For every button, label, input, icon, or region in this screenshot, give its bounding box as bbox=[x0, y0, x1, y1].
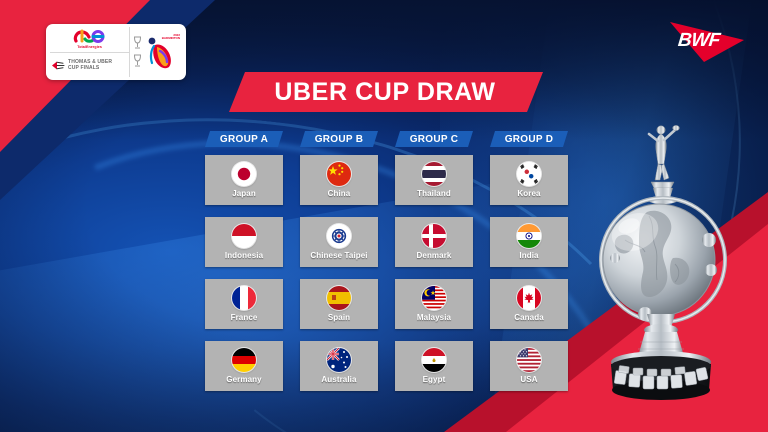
team-card[interactable]: France bbox=[205, 279, 283, 329]
usa-flag bbox=[517, 348, 541, 372]
team-card[interactable]: Malaysia bbox=[395, 279, 473, 329]
team-card[interactable]: Indonesia bbox=[205, 217, 283, 267]
group-column-d: GROUP D Kore bbox=[490, 131, 568, 403]
team-name: Spain bbox=[328, 313, 350, 322]
team-name: Chinese Taipei bbox=[310, 251, 367, 260]
denmark-flag bbox=[422, 224, 446, 248]
malaysia-flag bbox=[422, 286, 446, 310]
uber-cup-trophy-icon bbox=[585, 108, 755, 408]
group-tab-d[interactable]: GROUP D bbox=[490, 131, 568, 147]
team-name: Denmark bbox=[417, 251, 452, 260]
team-card[interactable]: Germany bbox=[205, 341, 283, 391]
egypt-flag bbox=[422, 348, 446, 372]
team-card[interactable]: India bbox=[490, 217, 568, 267]
team-card[interactable]: Chinese Taipei bbox=[300, 217, 378, 267]
group-tab-d-label: GROUP D bbox=[505, 134, 554, 145]
team-card[interactable]: Egypt bbox=[395, 341, 473, 391]
chinese-taipei-flag bbox=[327, 224, 351, 248]
group-tab-b[interactable]: GROUP B bbox=[300, 131, 378, 147]
australia-flag bbox=[327, 348, 351, 372]
india-flag bbox=[517, 224, 541, 248]
team-name: Korea bbox=[517, 189, 540, 198]
team-name: India bbox=[519, 251, 538, 260]
team-name: Indonesia bbox=[225, 251, 263, 260]
germany-flag bbox=[232, 348, 256, 372]
group-tab-a-label: GROUP A bbox=[220, 134, 268, 145]
team-name: Thailand bbox=[417, 189, 451, 198]
team-name: Japan bbox=[232, 189, 256, 198]
team-name: Malaysia bbox=[417, 313, 451, 322]
uber-cup-trophy bbox=[585, 108, 755, 408]
group-tab-b-label: GROUP B bbox=[315, 134, 364, 145]
canada-flag bbox=[517, 286, 541, 310]
team-name: Canada bbox=[514, 313, 544, 322]
group-tab-c-label: GROUP C bbox=[410, 134, 459, 145]
france-flag bbox=[232, 286, 256, 310]
team-name: USA bbox=[520, 375, 537, 384]
thailand-flag bbox=[422, 162, 446, 186]
team-card[interactable]: Korea bbox=[490, 155, 568, 205]
group-column-c: GROUP C Thailand Denmark bbox=[395, 131, 473, 403]
team-card[interactable]: Canada bbox=[490, 279, 568, 329]
korea-flag bbox=[517, 162, 541, 186]
china-flag bbox=[327, 162, 351, 186]
group-column-b: GROUP B China bbox=[300, 131, 378, 403]
group-column-a: GROUP A Japan Indonesia France bbox=[205, 131, 283, 403]
indonesia-flag bbox=[232, 224, 256, 248]
team-card[interactable]: Thailand bbox=[395, 155, 473, 205]
group-tab-a[interactable]: GROUP A bbox=[205, 131, 283, 147]
team-name: Germany bbox=[226, 375, 261, 384]
team-name: Egypt bbox=[423, 375, 446, 384]
team-card[interactable]: Japan bbox=[205, 155, 283, 205]
team-card[interactable]: Denmark bbox=[395, 217, 473, 267]
group-tab-c[interactable]: GROUP C bbox=[395, 131, 473, 147]
team-card[interactable]: China bbox=[300, 155, 378, 205]
team-name: France bbox=[231, 313, 258, 322]
team-card[interactable]: USA bbox=[490, 341, 568, 391]
team-card[interactable]: Australia bbox=[300, 341, 378, 391]
team-name: China bbox=[328, 189, 351, 198]
japan-flag bbox=[232, 162, 256, 186]
team-card[interactable]: Spain bbox=[300, 279, 378, 329]
spain-flag bbox=[327, 286, 351, 310]
draw-graphic: TotalEnergies THOMAS & UBER CUP FINALS bbox=[0, 0, 768, 432]
team-name: Australia bbox=[321, 375, 356, 384]
